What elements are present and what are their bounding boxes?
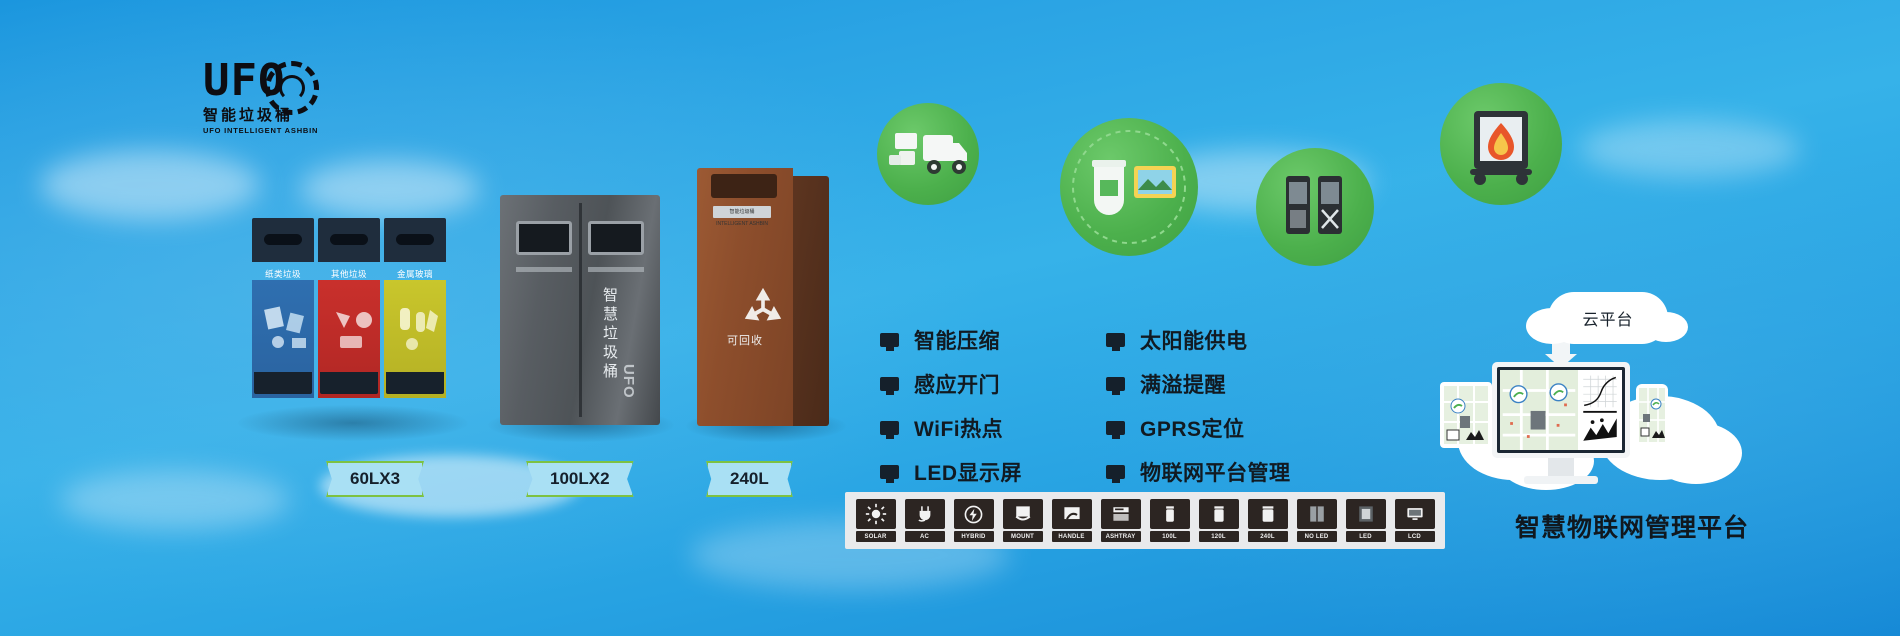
feature-item: LED显示屏 bbox=[880, 457, 1022, 487]
ashtray-icon bbox=[1101, 499, 1141, 529]
solar-bin-icon bbox=[1060, 118, 1198, 256]
spec-option-240l: 240L bbox=[1246, 499, 1289, 542]
compartment-base bbox=[254, 372, 312, 394]
feature-column-left: 智能压缩 感应开门 WiFi热点 LED显示屏 bbox=[880, 325, 1022, 487]
chart-view bbox=[1578, 370, 1622, 450]
feature-label: 智能压缩 bbox=[914, 325, 1000, 355]
cloud-decoration bbox=[300, 160, 480, 218]
feature-item: WiFi热点 bbox=[880, 413, 1022, 443]
bin-120l-icon bbox=[1199, 499, 1239, 529]
bin-side-text: 智慧垃圾桶 bbox=[600, 287, 620, 382]
spec-option-mount: MOUNT bbox=[1001, 499, 1044, 542]
metal-glass-illustration bbox=[390, 298, 450, 356]
spec-option-100l: 100L bbox=[1148, 499, 1191, 542]
bin-compartment-metal-glass: 金属玻璃 bbox=[384, 218, 446, 398]
compartment-label: 金属玻璃 bbox=[384, 268, 446, 280]
compartment-label: 纸类垃圾 bbox=[252, 268, 314, 280]
monitor-bullet-icon bbox=[880, 333, 899, 347]
feature-label: 感应开门 bbox=[914, 369, 1000, 399]
spec-option-no-led: NO LED bbox=[1295, 499, 1338, 542]
waste-opening bbox=[516, 221, 572, 255]
city-map-view bbox=[1500, 370, 1578, 450]
tablet-screen bbox=[1444, 386, 1488, 444]
monitor-bullet-icon bbox=[1106, 333, 1125, 347]
monitor-bullet-icon bbox=[880, 465, 899, 479]
led-panel-icon bbox=[1346, 499, 1386, 529]
map-dashboard-mini bbox=[1444, 386, 1488, 444]
spec-label: LED bbox=[1346, 531, 1386, 542]
cloud-decoration bbox=[40, 150, 260, 220]
tablet-device bbox=[1440, 382, 1492, 448]
feature-label: 物联网平台管理 bbox=[1140, 457, 1291, 487]
feature-item: 物联网平台管理 bbox=[1106, 457, 1291, 487]
desktop-monitor bbox=[1492, 362, 1630, 458]
spec-option-strip: SOLAR AC HYBRID MOUNT HANDLE bbox=[845, 492, 1445, 549]
compartment-lid bbox=[318, 218, 380, 262]
platform-title: 智慧物联网管理平台 bbox=[1437, 508, 1827, 544]
bin-100l-icon bbox=[1150, 499, 1190, 529]
waste-slot bbox=[396, 234, 434, 245]
phone-screen bbox=[1639, 388, 1665, 442]
monitor-stand bbox=[1548, 458, 1574, 478]
feature-list: 智能压缩 感应开门 WiFi热点 LED显示屏 太阳能供电 满溢提醒 bbox=[880, 325, 1291, 487]
iot-platform-illustration: 云平台 bbox=[1440, 300, 1820, 530]
bin-divider bbox=[579, 203, 582, 417]
ribbon-label: 60LX3 bbox=[350, 469, 400, 489]
analytics-panel bbox=[1578, 370, 1622, 450]
spec-option-solar: SOLAR bbox=[854, 499, 897, 542]
bin-top-opening bbox=[711, 174, 777, 198]
capacity-ribbon-240l: 240L bbox=[706, 461, 793, 497]
spec-option-handle: HANDLE bbox=[1050, 499, 1093, 542]
cloud-decoration bbox=[60, 470, 290, 530]
compartment-label: 其他垃圾 bbox=[318, 268, 380, 280]
bin-compartment-paper: 纸类垃圾 bbox=[252, 218, 314, 398]
waste-opening bbox=[588, 221, 644, 255]
capacity-ribbon-60lx3: 60LX3 bbox=[326, 461, 424, 497]
fire-alarm-circle bbox=[1440, 83, 1562, 205]
cloud-platform-label: 云平台 bbox=[1548, 292, 1668, 344]
spec-option-ashtray: ASHTRAY bbox=[1099, 499, 1142, 542]
feature-item: 太阳能供电 bbox=[1106, 325, 1291, 355]
brand-logo: UFO 智能垃圾桶 UFO INTELLIGENT ASHBIN bbox=[203, 57, 323, 152]
feature-item: GPRS定位 bbox=[1106, 413, 1291, 443]
handle-icon bbox=[1052, 499, 1092, 529]
monitor-screen bbox=[1497, 367, 1625, 453]
spec-label: AC bbox=[905, 531, 945, 542]
monitor-bullet-icon bbox=[880, 377, 899, 391]
compartment-lid bbox=[252, 218, 314, 262]
monitor-bullet-icon bbox=[1106, 377, 1125, 391]
feature-column-right: 太阳能供电 满溢提醒 GPRS定位 物联网平台管理 bbox=[1106, 325, 1291, 487]
power-plug-icon bbox=[905, 499, 945, 529]
lcd-screen-icon bbox=[1395, 499, 1435, 529]
compaction-truck-circle bbox=[877, 103, 979, 205]
ufo-ring-icon bbox=[265, 61, 319, 115]
bin-front-label: 可回收 bbox=[697, 332, 793, 348]
cloud-label-text: 云平台 bbox=[1582, 306, 1633, 330]
cloud-decoration bbox=[1580, 120, 1800, 178]
spec-option-led: LED bbox=[1344, 499, 1387, 542]
spec-label: 120L bbox=[1199, 531, 1239, 542]
spec-option-ac: AC bbox=[903, 499, 946, 542]
capacity-ribbon-100lx2: 100LX2 bbox=[526, 461, 634, 497]
feature-item: 感应开门 bbox=[880, 369, 1022, 399]
spec-label: 100L bbox=[1150, 531, 1190, 542]
wall-mount-icon bbox=[1003, 499, 1043, 529]
waste-slot bbox=[264, 234, 302, 245]
fire-detection-icon bbox=[1440, 83, 1562, 205]
spec-label: HYBRID bbox=[954, 531, 994, 542]
bin-side-brand: UFO bbox=[620, 364, 637, 399]
spec-label: LCD bbox=[1395, 531, 1435, 542]
spec-label: SOLAR bbox=[856, 531, 896, 542]
other-waste-illustration bbox=[324, 298, 384, 356]
bin-compartment-other: 其他垃圾 bbox=[318, 218, 380, 398]
paper-waste-illustration bbox=[258, 298, 318, 356]
two-compartment-bin: 智慧垃圾桶 UFO bbox=[500, 195, 660, 425]
logo-english-name: UFO INTELLIGENT ASHBIN bbox=[203, 126, 323, 135]
accent-strip bbox=[588, 267, 644, 272]
waste-slot bbox=[330, 234, 368, 245]
single-brown-bin: 智能垃圾桶 INTELLIGENT ASHBIN 可回收 bbox=[697, 168, 829, 426]
three-compartment-bin: 纸类垃圾 其他垃圾 bbox=[252, 218, 452, 423]
ribbon-label: 240L bbox=[730, 469, 769, 489]
dual-bin-circle bbox=[1256, 148, 1374, 266]
sun-icon bbox=[856, 499, 896, 529]
compartment-lid bbox=[384, 218, 446, 262]
map-dashboard-mini bbox=[1639, 388, 1665, 442]
dual-bin-icon bbox=[1256, 148, 1374, 266]
spec-option-hybrid: HYBRID bbox=[952, 499, 995, 542]
bin-240l-icon bbox=[1248, 499, 1288, 529]
feature-item: 满溢提醒 bbox=[1106, 369, 1291, 399]
feature-item: 智能压缩 bbox=[880, 325, 1022, 355]
spec-label: MOUNT bbox=[1003, 531, 1043, 542]
spec-option-lcd: LCD bbox=[1393, 499, 1436, 542]
feature-label: 太阳能供电 bbox=[1140, 325, 1248, 355]
monitor-bullet-icon bbox=[1106, 465, 1125, 479]
feature-label: GPRS定位 bbox=[1140, 413, 1245, 443]
bin-nameplate: 智能垃圾桶 INTELLIGENT ASHBIN bbox=[713, 206, 771, 218]
spec-label: HANDLE bbox=[1052, 531, 1092, 542]
bin-side-panel bbox=[793, 176, 829, 426]
monitor-base bbox=[1524, 476, 1598, 484]
compartment-base bbox=[320, 372, 378, 394]
spec-label: NO LED bbox=[1297, 531, 1337, 542]
map-panel bbox=[1500, 370, 1578, 450]
ribbon-label: 100LX2 bbox=[550, 469, 610, 489]
spec-label: 240L bbox=[1248, 531, 1288, 542]
feature-label: LED显示屏 bbox=[914, 457, 1022, 487]
poster-canvas: UFO 智能垃圾桶 UFO INTELLIGENT ASHBIN 纸类垃圾 bbox=[0, 0, 1900, 636]
accent-strip bbox=[516, 267, 572, 272]
no-led-panel-icon bbox=[1297, 499, 1337, 529]
monitor-bullet-icon bbox=[1106, 421, 1125, 435]
spec-option-120l: 120L bbox=[1197, 499, 1240, 542]
spec-label: ASHTRAY bbox=[1101, 531, 1141, 542]
monitor-bullet-icon bbox=[880, 421, 899, 435]
feature-label: 满溢提醒 bbox=[1140, 369, 1226, 399]
recycle-icon bbox=[740, 286, 786, 326]
feature-label: WiFi热点 bbox=[914, 413, 1003, 443]
compartment-base bbox=[386, 372, 444, 394]
solar-panel-circle bbox=[1060, 118, 1198, 256]
smartphone-device bbox=[1636, 384, 1668, 446]
lightning-circle-icon bbox=[954, 499, 994, 529]
garbage-truck-icon bbox=[877, 103, 979, 205]
